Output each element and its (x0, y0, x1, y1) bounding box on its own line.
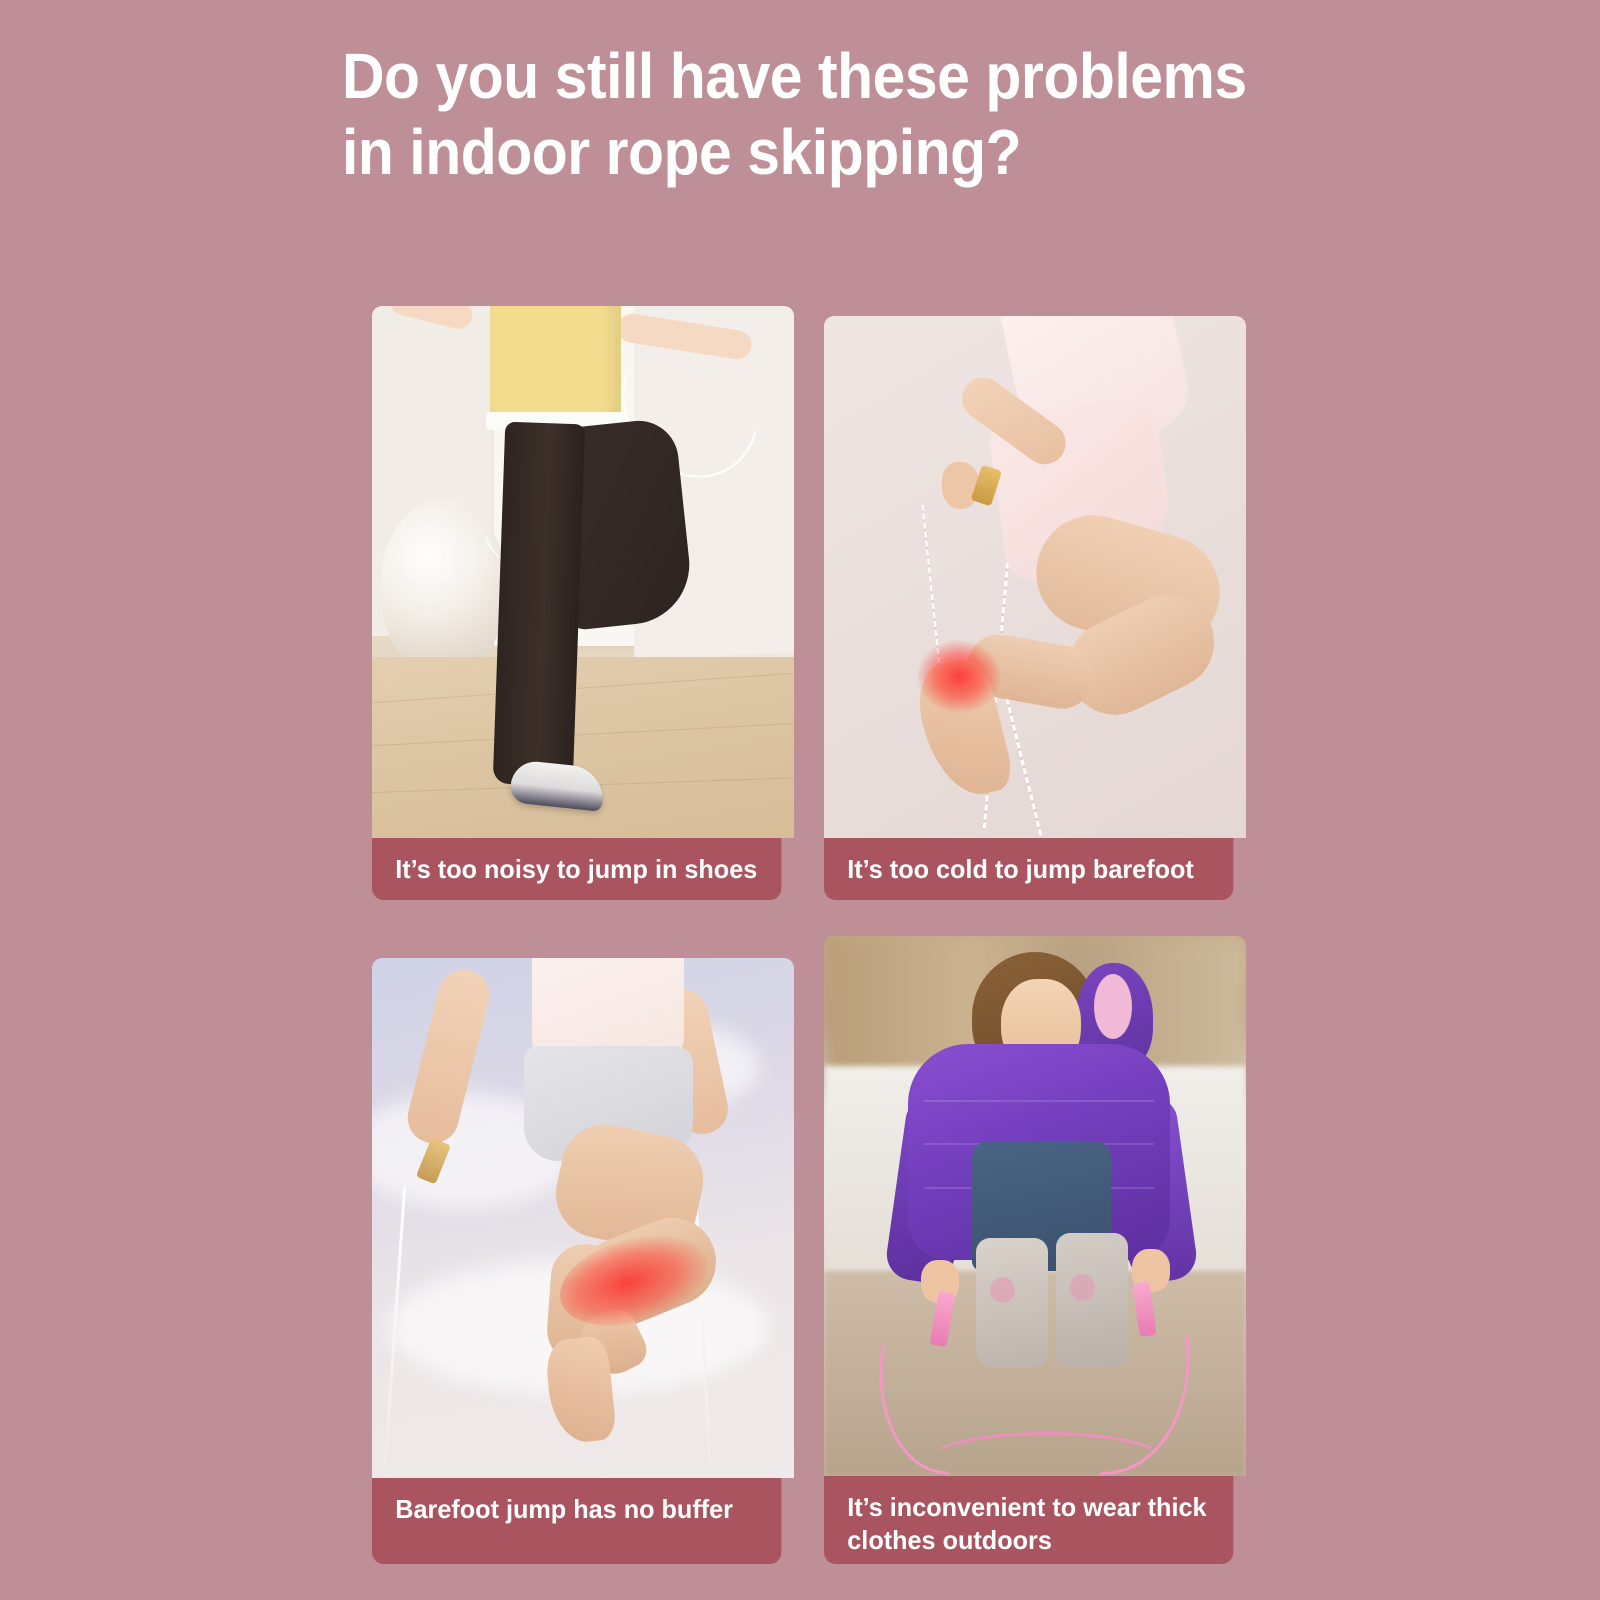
card-caption: Barefoot jump has no buffer (372, 1478, 781, 1564)
photo-cold-barefoot (824, 316, 1246, 838)
problem-card-cold-barefoot[interactable]: It’s too cold to jump barefoot (824, 316, 1246, 900)
problem-grid: It’s too noisy to jump in shoes It’s too… (372, 306, 1246, 1564)
photo-noisy-shoes (372, 306, 794, 838)
hood-lining (1094, 974, 1132, 1039)
poster-root: Do you still have these problems in indo… (0, 0, 1600, 1600)
yellow-top (490, 306, 621, 423)
card-caption: It’s too noisy to jump in shoes (372, 838, 781, 900)
snow-boot-left (976, 1238, 1048, 1368)
wood-floor (372, 657, 794, 838)
problem-card-no-buffer[interactable]: Barefoot jump has no buffer (372, 958, 794, 1564)
card-caption: It’s inconvenient to wear thick clothes … (824, 1476, 1233, 1564)
standing-leg-pants (492, 422, 585, 786)
card-caption: It’s too cold to jump barefoot (824, 838, 1233, 900)
photo-no-buffer (372, 958, 794, 1478)
problem-card-noisy-shoes[interactable]: It’s too noisy to jump in shoes (372, 306, 794, 900)
page-title: Do you still have these problems in indo… (342, 38, 1262, 190)
snow-boot-right (1056, 1233, 1128, 1368)
photo-thick-clothes (824, 936, 1246, 1476)
pain-glow-foot (917, 640, 1001, 713)
problem-card-thick-clothes[interactable]: It’s inconvenient to wear thick clothes … (824, 936, 1246, 1564)
